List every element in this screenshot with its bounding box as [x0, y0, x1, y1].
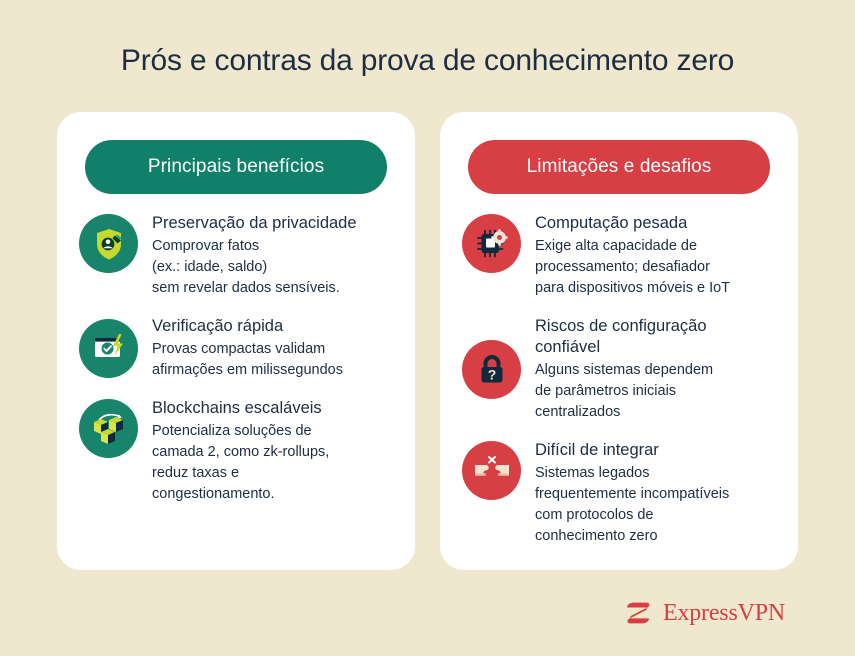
- list-item-desc: Comprovar fatos (ex.: idade, saldo) sem …: [152, 236, 393, 299]
- cpu-gear-icon: [462, 214, 521, 273]
- benefits-card: Principais benefícios Preservação da pri…: [57, 112, 415, 570]
- list-item-text: Verificação rápida Provas compactas vali…: [152, 315, 393, 381]
- scalable-blockchain-icon: [79, 399, 138, 458]
- list-item-desc: Sistemas legados frequentemente incompat…: [535, 463, 776, 547]
- expressvpn-logo-text: ExpressVPN: [663, 600, 785, 627]
- list-item-text: Riscos de configuração confiável Alguns …: [535, 315, 776, 423]
- page-title: Prós e contras da prova de conhecimento …: [0, 44, 855, 78]
- list-item-text: Preservação da privacidade Comprovar fat…: [152, 212, 393, 299]
- list-item-title: Riscos de configuração confiável: [535, 316, 776, 358]
- list-item: Difícil de integrar Sistemas legados fre…: [462, 439, 776, 547]
- list-item-title: Verificação rápida: [152, 316, 393, 337]
- limitations-item-list: Computação pesada Exige alta capacidade …: [462, 212, 776, 563]
- list-item-text: Blockchains escaláveis Potencializa solu…: [152, 397, 393, 505]
- list-item: Verificação rápida Provas compactas vali…: [79, 315, 393, 381]
- list-item-title: Preservação da privacidade: [152, 213, 393, 234]
- list-item-desc: Alguns sistemas dependem de parâmetros i…: [535, 360, 776, 423]
- svg-text:?: ?: [487, 366, 496, 382]
- shield-privacy-icon: [79, 214, 138, 273]
- benefits-card-header: Principais benefícios: [85, 140, 387, 194]
- list-item: ? Riscos de configuração confiável Algun…: [462, 315, 776, 423]
- limitations-card-header: Limitações e desafios: [468, 140, 770, 194]
- cards-container: Principais benefícios Preservação da pri…: [57, 112, 798, 570]
- list-item-desc: Provas compactas validam afirmações em m…: [152, 339, 393, 381]
- expressvpn-logo-mark: [623, 598, 654, 629]
- list-item-desc: Exige alta capacidade de processamento; …: [535, 236, 776, 299]
- list-item: Blockchains escaláveis Potencializa solu…: [79, 397, 393, 505]
- list-item-title: Blockchains escaláveis: [152, 398, 393, 419]
- list-item-desc: Potencializa soluções de camada 2, como …: [152, 421, 393, 505]
- list-item-title: Difícil de integrar: [535, 440, 776, 461]
- list-item: Computação pesada Exige alta capacidade …: [462, 212, 776, 299]
- list-item-text: Computação pesada Exige alta capacidade …: [535, 212, 776, 299]
- expressvpn-logo: ExpressVPN: [623, 598, 785, 629]
- fast-verification-icon: [79, 319, 138, 378]
- list-item-title: Computação pesada: [535, 213, 776, 234]
- list-item: Preservação da privacidade Comprovar fat…: [79, 212, 393, 299]
- list-item-text: Difícil de integrar Sistemas legados fre…: [535, 439, 776, 547]
- lock-question-icon: ?: [462, 340, 521, 399]
- puzzle-mismatch-icon: [462, 441, 521, 500]
- benefits-item-list: Preservação da privacidade Comprovar fat…: [79, 212, 393, 521]
- limitations-card: Limitações e desafios: [440, 112, 798, 570]
